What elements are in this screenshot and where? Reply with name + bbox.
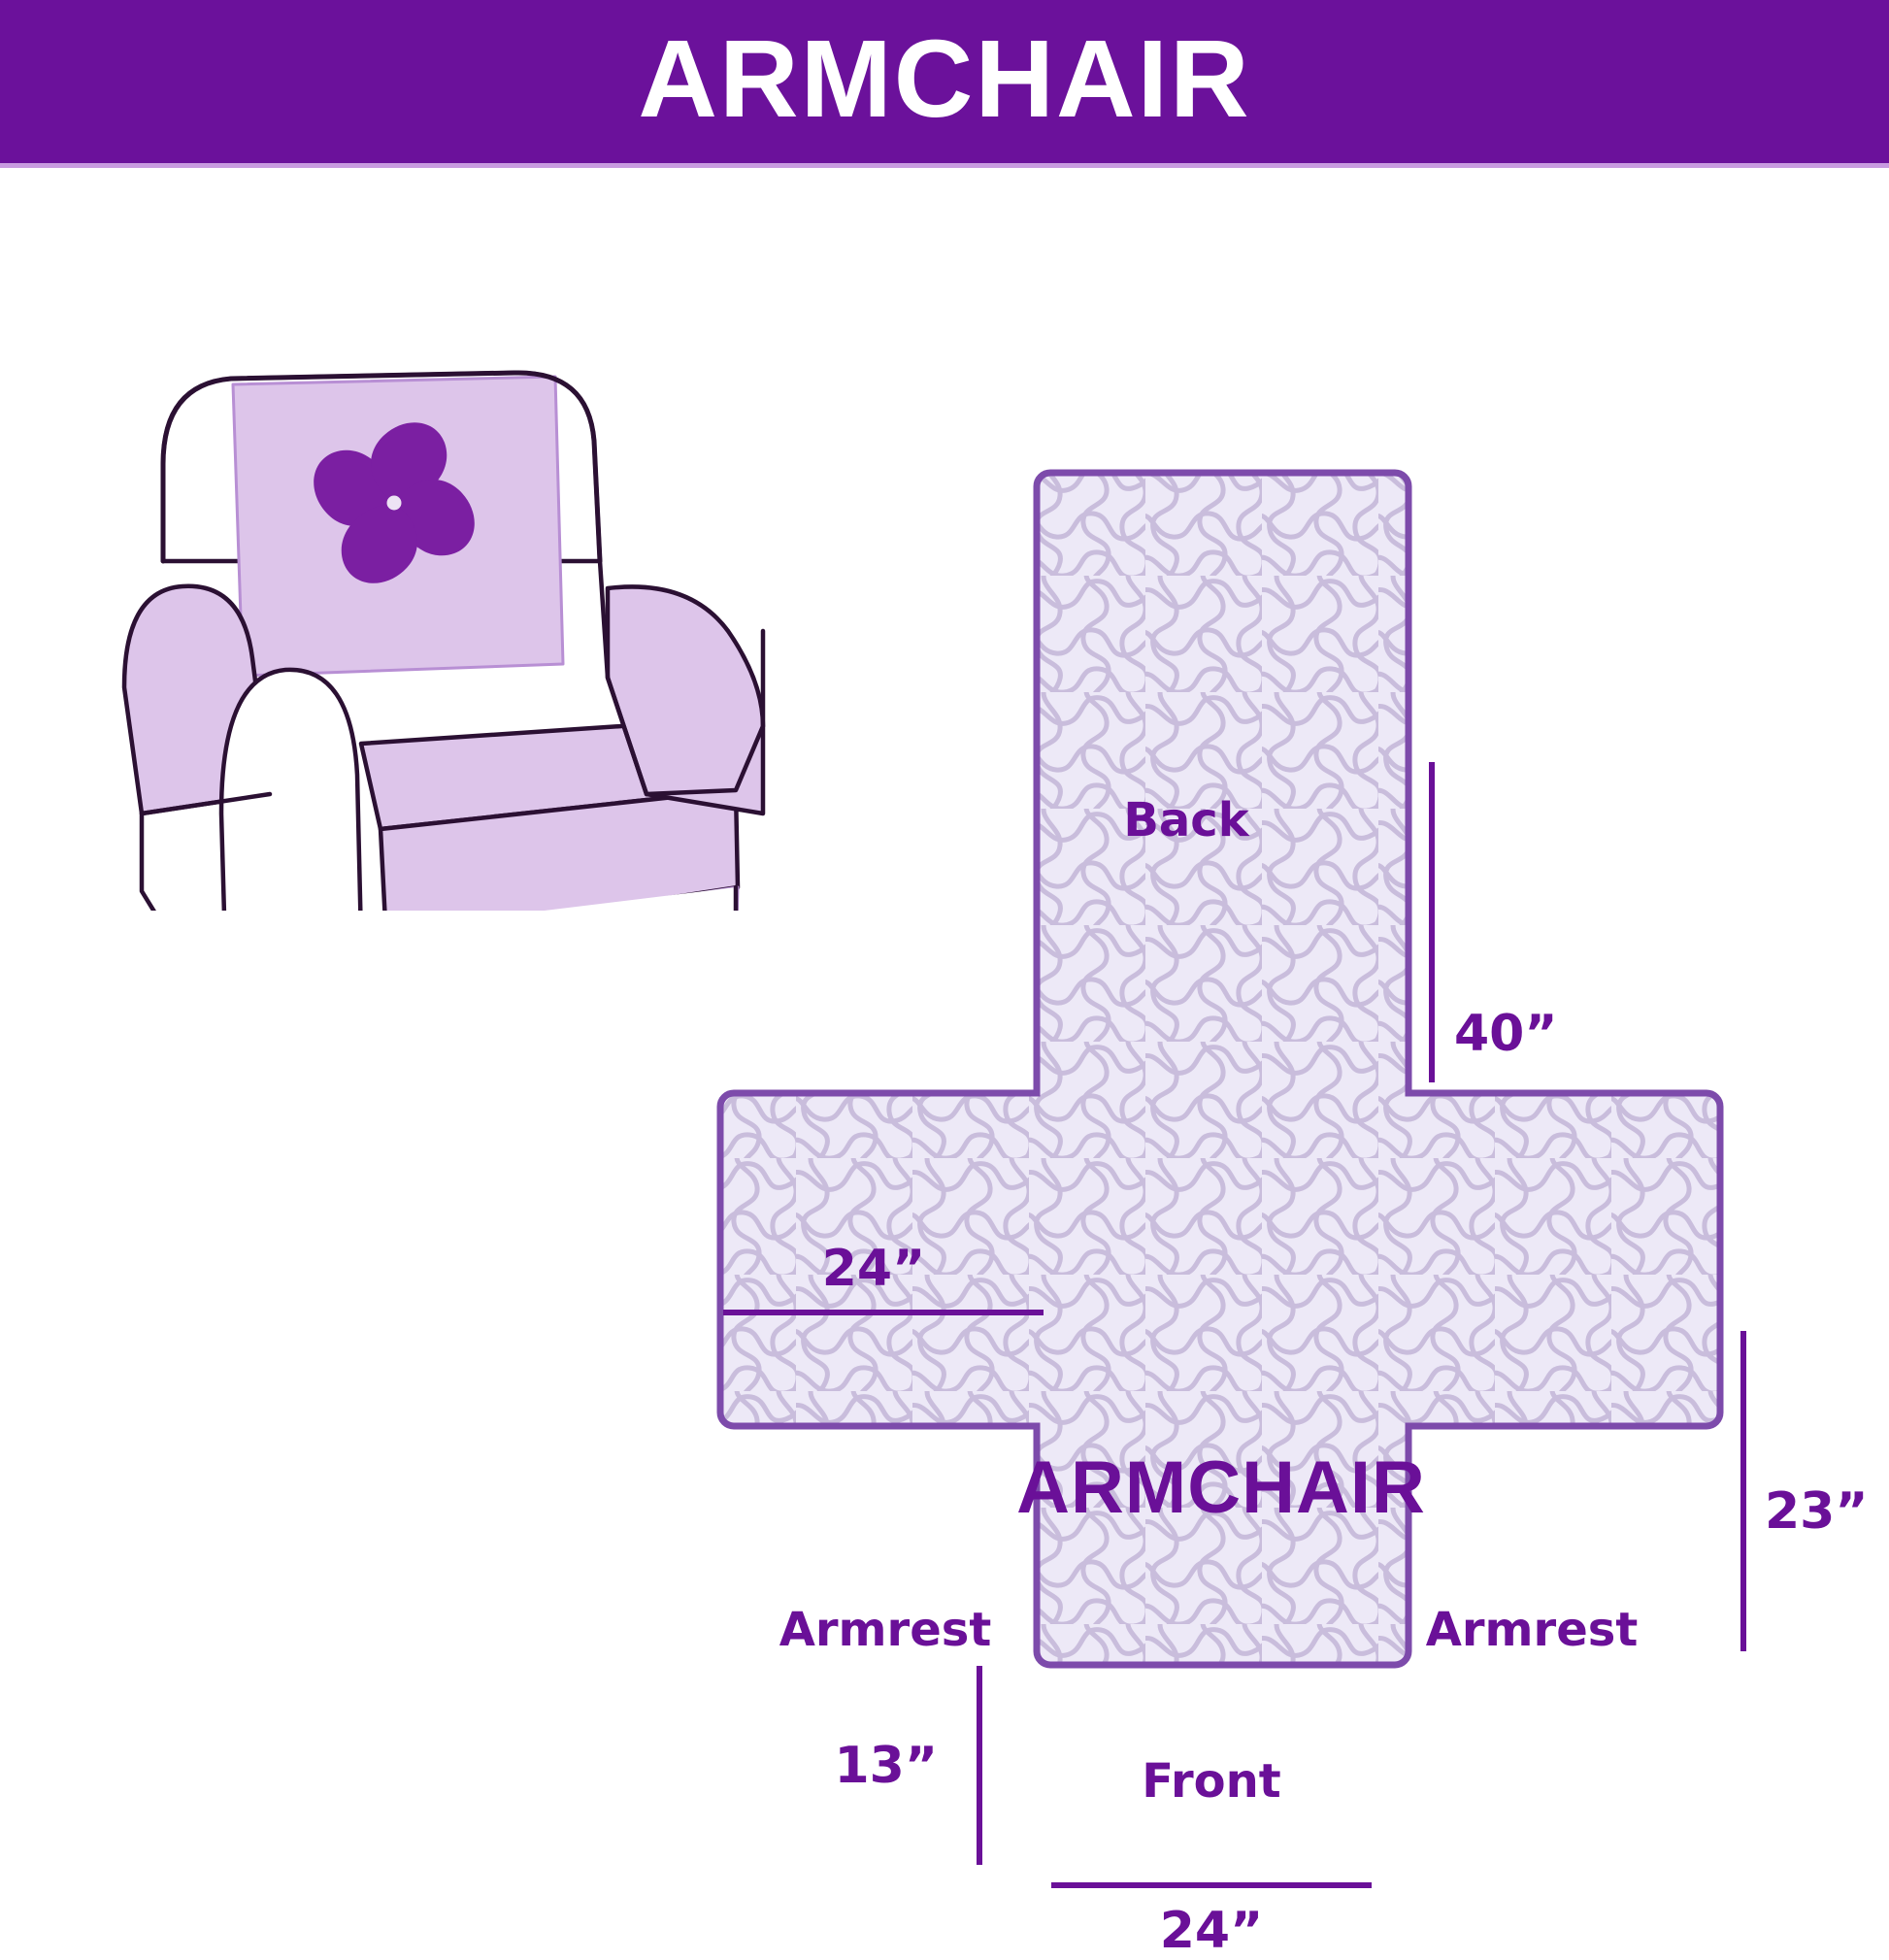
dimension-line-front-length	[977, 1666, 982, 1865]
dimension-label-front-width: 24”	[1160, 1906, 1264, 1956]
label-front: Front	[1142, 1758, 1280, 1805]
dimension-label-back-length: 40”	[1454, 1009, 1558, 1059]
label-armrest-right: Armrest	[1426, 1607, 1639, 1653]
label-armrest-left: Armrest	[779, 1607, 992, 1653]
dimension-line-front-width	[1051, 1882, 1372, 1888]
dimension-line-armrest-height	[1740, 1331, 1746, 1651]
label-back: Back	[1123, 797, 1248, 844]
dimension-line-armrest-width	[723, 1310, 1044, 1315]
dimension-label-front-length: 13”	[834, 1741, 938, 1791]
dimension-line-back-length	[1429, 762, 1435, 1082]
label-armchair-center: ARMCHAIR	[1016, 1451, 1426, 1525]
content-stage: Back Armrest Armrest Front ARMCHAIR 40” …	[0, 168, 1889, 1889]
pattern-diagram	[563, 459, 1889, 1886]
header-banner: ARMCHAIR	[0, 0, 1889, 163]
dimension-label-armrest-width: 24”	[822, 1244, 926, 1294]
dimension-label-armrest-height: 23”	[1765, 1486, 1869, 1537]
page-title: ARMCHAIR	[638, 24, 1250, 140]
